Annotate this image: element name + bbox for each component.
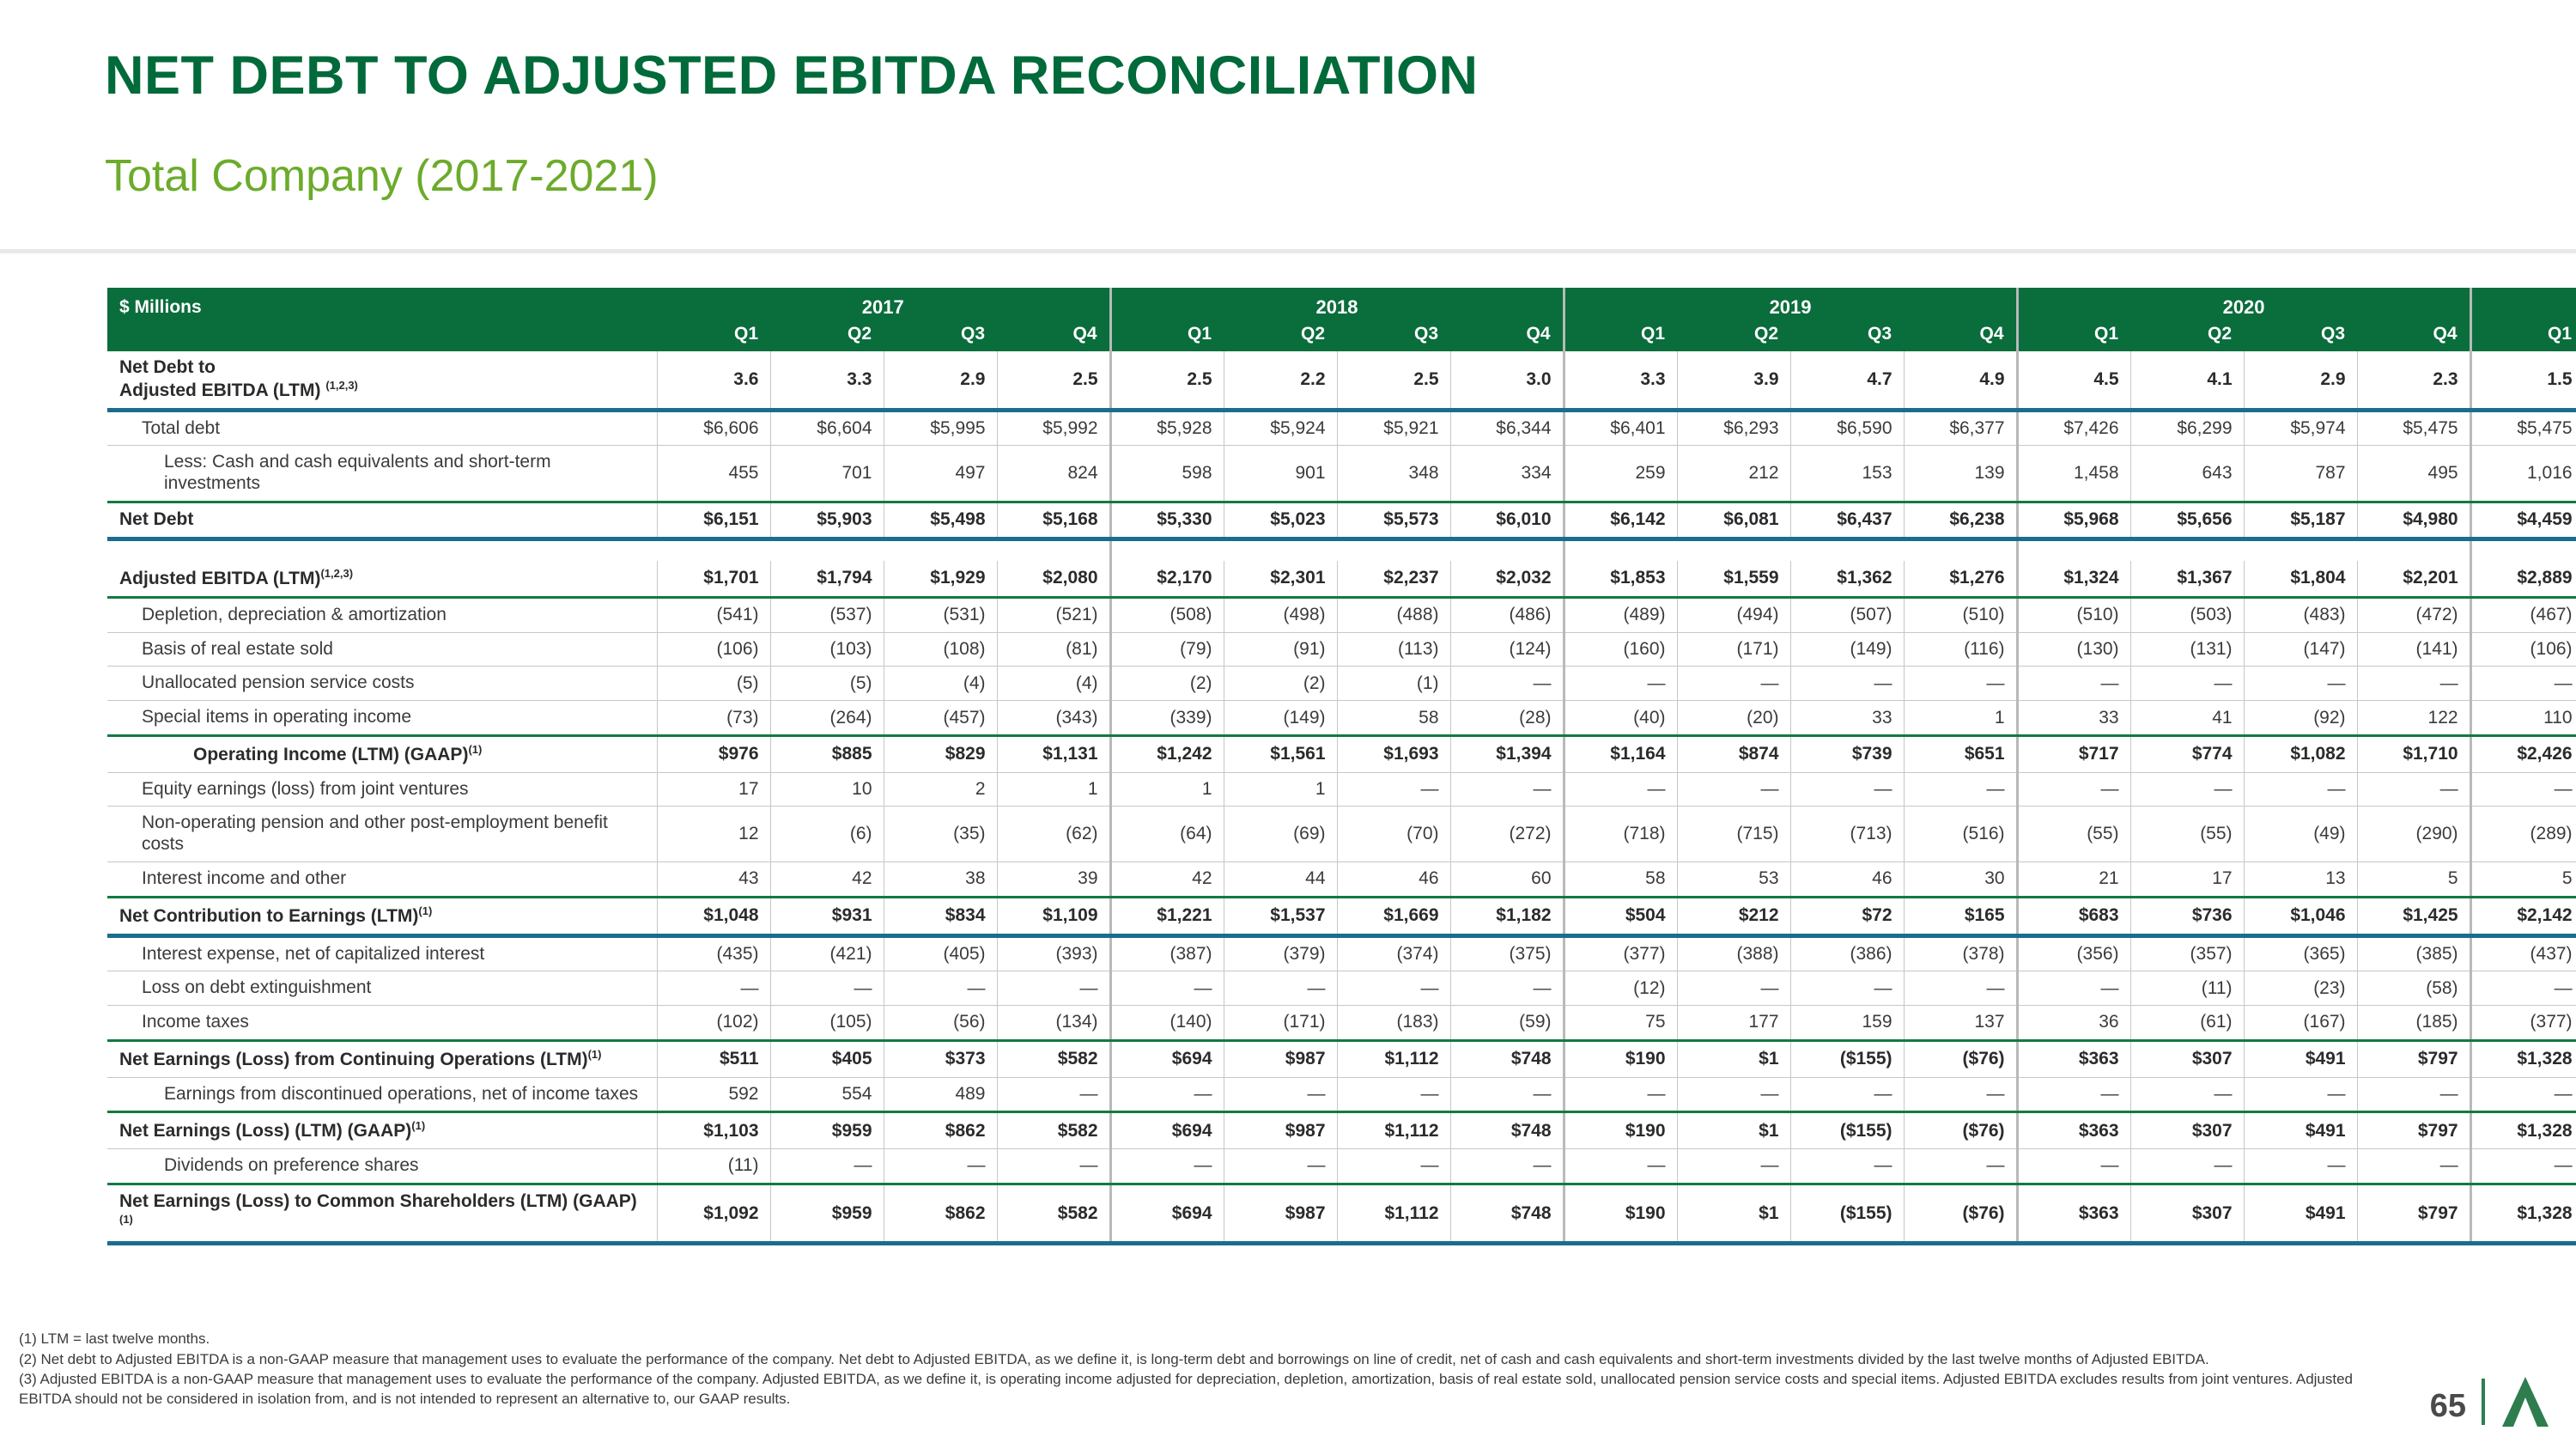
cell-total-debt-2018-Q4: $6,344	[1450, 410, 1564, 446]
cell-interest-expense-net-of-capitalized-2018-Q1: (387)	[1110, 935, 1224, 971]
cell-net-earnings-ltm-gaap-2017-Q2: $959	[770, 1112, 884, 1149]
cell-net-debt-2018-Q1: $5,330	[1110, 502, 1224, 539]
cell-loss-on-debt-extinguishment-2019-Q4: —	[1904, 971, 2017, 1006]
cell-net-earnings-to-common-shareholders-ltm-gaap-2017-Q1: $1,092	[657, 1184, 770, 1244]
quarter-header-2017-Q1: Q1	[657, 322, 770, 351]
row-label-net-earnings-from-continuing-operations-ltm: Net Earnings (Loss) from Continuing Oper…	[107, 1040, 657, 1077]
cell-adjusted-ebitda-ltm-2017-Q3: $1,929	[884, 561, 997, 597]
cell-operating-income-ltm-gaap-2021-Q1: $2,426	[2470, 735, 2576, 772]
quarter-header-2017-Q4: Q4	[997, 322, 1110, 351]
cell-depletion-depreciation-amortization-2018-Q4: (486)	[1450, 597, 1564, 632]
cell-net-earnings-to-common-shareholders-ltm-gaap-2021-Q1: $1,328	[2470, 1184, 2576, 1244]
cell-loss-on-debt-extinguishment-2017-Q1: —	[657, 971, 770, 1006]
cell-net-contribution-to-earnings-ltm-2017-Q4: $1,109	[997, 897, 1110, 935]
cell-adjusted-ebitda-ltm-2018-Q3: $2,237	[1337, 561, 1450, 597]
cell-unallocated-pension-service-costs-2020-Q2: —	[2130, 667, 2244, 701]
row-label-income-taxes: Income taxes	[107, 1006, 657, 1041]
cell-unallocated-pension-service-costs-2018-Q3: (1)	[1337, 667, 1450, 701]
table-row: Interest income and other434238394244466…	[107, 861, 2576, 897]
cell-income-taxes-2019-Q3: 159	[1790, 1006, 1904, 1041]
cell-basis-of-real-estate-sold-2019-Q2: (171)	[1677, 632, 1790, 667]
cell-interest-income-and-other-2020-Q1: 21	[2017, 861, 2130, 897]
footnote-2: (2) Net debt to Adjusted EBITDA is a non…	[19, 1350, 2354, 1370]
row-label-dividends-on-preference-shares: Dividends on preference shares	[107, 1149, 657, 1184]
cell-less-cash-and-equivalents-2020-Q3: 787	[2244, 446, 2357, 502]
cell-equity-earnings-from-joint-ventures-2019-Q1: —	[1564, 772, 1677, 807]
cell-non-operating-pension-benefit-costs-2018-Q3: (70)	[1337, 807, 1450, 862]
cell-earnings-from-discontinued-operations-2019-Q4: —	[1904, 1077, 2017, 1112]
cell-interest-expense-net-of-capitalized-2020-Q4: (385)	[2357, 935, 2470, 971]
cell-net-earnings-to-common-shareholders-ltm-gaap-2020-Q2: $307	[2130, 1184, 2244, 1244]
cell-unallocated-pension-service-costs-2020-Q1: —	[2017, 667, 2130, 701]
cell-net-debt-to-adjusted-ebitda-ltm-2020-Q1: 4.5	[2017, 351, 2130, 410]
cell-interest-income-and-other-2019-Q4: 30	[1904, 861, 2017, 897]
cell-depletion-depreciation-amortization-2017-Q1: (541)	[657, 597, 770, 632]
cell-net-debt-to-adjusted-ebitda-ltm-2018-Q1: 2.5	[1110, 351, 1224, 410]
cell-total-debt-2020-Q2: $6,299	[2130, 410, 2244, 446]
cell-interest-income-and-other-2020-Q3: 13	[2244, 861, 2357, 897]
cell-net-earnings-ltm-gaap-2017-Q1: $1,103	[657, 1112, 770, 1149]
cell-income-taxes-2017-Q4: (134)	[997, 1006, 1110, 1041]
year-header-2019: 2019	[1564, 288, 2017, 322]
cell-equity-earnings-from-joint-ventures-2019-Q4: —	[1904, 772, 2017, 807]
quarter-header-2017-Q2: Q2	[770, 322, 884, 351]
cell-earnings-from-discontinued-operations-2018-Q3: —	[1337, 1077, 1450, 1112]
cell-adjusted-ebitda-ltm-2020-Q1: $1,324	[2017, 561, 2130, 597]
cell-interest-expense-net-of-capitalized-2018-Q4: (375)	[1450, 935, 1564, 971]
cell-loss-on-debt-extinguishment-2019-Q1: (12)	[1564, 971, 1677, 1006]
year-header-2018: 2018	[1110, 288, 1564, 322]
cell-special-items-in-operating-income-2019-Q2: (20)	[1677, 701, 1790, 736]
cell-unallocated-pension-service-costs-2018-Q2: (2)	[1224, 667, 1337, 701]
cell-earnings-from-discontinued-operations-2019-Q1: —	[1564, 1077, 1677, 1112]
cell-net-contribution-to-earnings-ltm-2019-Q1: $504	[1564, 897, 1677, 935]
cell-operating-income-ltm-gaap-2018-Q1: $1,242	[1110, 735, 1224, 772]
cell-dividends-on-preference-shares-2019-Q4: —	[1904, 1149, 2017, 1184]
cell-net-debt-to-adjusted-ebitda-ltm-2018-Q4: 3.0	[1450, 351, 1564, 410]
cell-basis-of-real-estate-sold-2017-Q2: (103)	[770, 632, 884, 667]
cell-net-earnings-ltm-gaap-2019-Q4: ($76)	[1904, 1112, 2017, 1149]
cell-non-operating-pension-benefit-costs-2020-Q4: (290)	[2357, 807, 2470, 862]
cell-operating-income-ltm-gaap-2019-Q1: $1,164	[1564, 735, 1677, 772]
cell-equity-earnings-from-joint-ventures-2017-Q3: 2	[884, 772, 997, 807]
cell-equity-earnings-from-joint-ventures-2020-Q1: —	[2017, 772, 2130, 807]
quarter-row-spacer	[107, 322, 657, 351]
cell-dividends-on-preference-shares-2021-Q1: —	[2470, 1149, 2576, 1184]
cell-net-debt-to-adjusted-ebitda-ltm-2019-Q4: 4.9	[1904, 351, 2017, 410]
cell-net-earnings-ltm-gaap-2018-Q2: $987	[1224, 1112, 1337, 1149]
cell-dividends-on-preference-shares-2017-Q3: —	[884, 1149, 997, 1184]
table-row: Net Earnings (Loss) from Continuing Oper…	[107, 1040, 2576, 1077]
cell-basis-of-real-estate-sold-2018-Q2: (91)	[1224, 632, 1337, 667]
cell-depletion-depreciation-amortization-2017-Q3: (531)	[884, 597, 997, 632]
cell-depletion-depreciation-amortization-2017-Q2: (537)	[770, 597, 884, 632]
cell-less-cash-and-equivalents-2018-Q2: 901	[1224, 446, 1337, 502]
cell-interest-income-and-other-2017-Q1: 43	[657, 861, 770, 897]
cell-equity-earnings-from-joint-ventures-2019-Q3: —	[1790, 772, 1904, 807]
cell-net-earnings-to-common-shareholders-ltm-gaap-2020-Q4: $797	[2357, 1184, 2470, 1244]
cell-net-earnings-to-common-shareholders-ltm-gaap-2018-Q1: $694	[1110, 1184, 1224, 1244]
cell-depletion-depreciation-amortization-2020-Q4: (472)	[2357, 597, 2470, 632]
cell-equity-earnings-from-joint-ventures-2018-Q2: 1	[1224, 772, 1337, 807]
cell-net-earnings-to-common-shareholders-ltm-gaap-2019-Q3: ($155)	[1790, 1184, 1904, 1244]
cell-net-debt-to-adjusted-ebitda-ltm-2018-Q3: 2.5	[1337, 351, 1450, 410]
cell-net-earnings-to-common-shareholders-ltm-gaap-2019-Q2: $1	[1677, 1184, 1790, 1244]
cell-basis-of-real-estate-sold-2018-Q1: (79)	[1110, 632, 1224, 667]
cell-loss-on-debt-extinguishment-2018-Q3: —	[1337, 971, 1450, 1006]
cell-interest-income-and-other-2017-Q2: 42	[770, 861, 884, 897]
cell-equity-earnings-from-joint-ventures-2018-Q4: —	[1450, 772, 1564, 807]
cell-total-debt-2018-Q1: $5,928	[1110, 410, 1224, 446]
cell-basis-of-real-estate-sold-2020-Q4: (141)	[2357, 632, 2470, 667]
cell-non-operating-pension-benefit-costs-2021-Q1: (289)	[2470, 807, 2576, 862]
quarter-header-2019-Q1: Q1	[1564, 322, 1677, 351]
cell-total-debt-2017-Q3: $5,995	[884, 410, 997, 446]
cell-net-earnings-ltm-gaap-2019-Q2: $1	[1677, 1112, 1790, 1149]
cell-loss-on-debt-extinguishment-2020-Q3: (23)	[2244, 971, 2357, 1006]
cell-net-contribution-to-earnings-ltm-2019-Q3: $72	[1790, 897, 1904, 935]
year-header-2017: 2017	[657, 288, 1110, 322]
cell-net-debt-2020-Q1: $5,968	[2017, 502, 2130, 539]
cell-net-debt-to-adjusted-ebitda-ltm-2017-Q1: 3.6	[657, 351, 770, 410]
table-header-quarter-row: Q1Q2Q3Q4Q1Q2Q3Q4Q1Q2Q3Q4Q1Q2Q3Q4Q1Q2Q3Q4	[107, 322, 2576, 351]
cell-income-taxes-2019-Q4: 137	[1904, 1006, 2017, 1041]
cell-dividends-on-preference-shares-2019-Q3: —	[1790, 1149, 1904, 1184]
row-label-loss-on-debt-extinguishment: Loss on debt extinguishment	[107, 971, 657, 1006]
cell-net-earnings-ltm-gaap-2018-Q3: $1,112	[1337, 1112, 1450, 1149]
cell-earnings-from-discontinued-operations-2017-Q3: 489	[884, 1077, 997, 1112]
cell-less-cash-and-equivalents-2020-Q2: 643	[2130, 446, 2244, 502]
cell-depletion-depreciation-amortization-2019-Q3: (507)	[1790, 597, 1904, 632]
cell-dividends-on-preference-shares-2018-Q2: —	[1224, 1149, 1337, 1184]
cell-operating-income-ltm-gaap-2018-Q3: $1,693	[1337, 735, 1450, 772]
row-label-net-contribution-to-earnings-ltm: Net Contribution to Earnings (LTM)(1)	[107, 897, 657, 935]
cell-income-taxes-2019-Q1: 75	[1564, 1006, 1677, 1041]
year-header-2021: 2021	[2470, 288, 2576, 322]
cell-net-contribution-to-earnings-ltm-2019-Q2: $212	[1677, 897, 1790, 935]
cell-dividends-on-preference-shares-2018-Q1: —	[1110, 1149, 1224, 1184]
row-label-basis-of-real-estate-sold: Basis of real estate sold	[107, 632, 657, 667]
cell-less-cash-and-equivalents-2021-Q1: 1,016	[2470, 446, 2576, 502]
quarter-header-2020-Q3: Q3	[2244, 322, 2357, 351]
row-label-net-earnings-to-common-shareholders-ltm-gaap: Net Earnings (Loss) to Common Shareholde…	[107, 1184, 657, 1244]
cell-net-contribution-to-earnings-ltm-2020-Q4: $1,425	[2357, 897, 2470, 935]
cell-net-debt-2017-Q2: $5,903	[770, 502, 884, 539]
table-row: Net Earnings (Loss) to Common Shareholde…	[107, 1184, 2576, 1244]
cell-basis-of-real-estate-sold-2021-Q1: (106)	[2470, 632, 2576, 667]
cell-equity-earnings-from-joint-ventures-2018-Q3: —	[1337, 772, 1450, 807]
cell-dividends-on-preference-shares-2020-Q3: —	[2244, 1149, 2357, 1184]
cell-unallocated-pension-service-costs-2017-Q2: (5)	[770, 667, 884, 701]
cell-operating-income-ltm-gaap-2019-Q2: $874	[1677, 735, 1790, 772]
cell-unallocated-pension-service-costs-2019-Q2: —	[1677, 667, 1790, 701]
cell-total-debt-2018-Q2: $5,924	[1224, 410, 1337, 446]
footnotes: (1) LTM = last twelve months.(2) Net deb…	[19, 1330, 2354, 1409]
cell-net-earnings-to-common-shareholders-ltm-gaap-2017-Q2: $959	[770, 1184, 884, 1244]
cell-net-debt-to-adjusted-ebitda-ltm-2021-Q1: 1.5	[2470, 351, 2576, 410]
quarter-header-2019-Q2: Q2	[1677, 322, 1790, 351]
cell-dividends-on-preference-shares-2017-Q2: —	[770, 1149, 884, 1184]
cell-operating-income-ltm-gaap-2018-Q4: $1,394	[1450, 735, 1564, 772]
cell-net-debt-2020-Q3: $5,187	[2244, 502, 2357, 539]
cell-operating-income-ltm-gaap-2020-Q4: $1,710	[2357, 735, 2470, 772]
cell-special-items-in-operating-income-2018-Q2: (149)	[1224, 701, 1337, 736]
cell-net-contribution-to-earnings-ltm-2020-Q3: $1,046	[2244, 897, 2357, 935]
cell-earnings-from-discontinued-operations-2018-Q2: —	[1224, 1077, 1337, 1112]
cell-interest-expense-net-of-capitalized-2021-Q1: (437)	[2470, 935, 2576, 971]
cell-less-cash-and-equivalents-2019-Q3: 153	[1790, 446, 1904, 502]
cell-earnings-from-discontinued-operations-2020-Q4: —	[2357, 1077, 2470, 1112]
cell-interest-expense-net-of-capitalized-2017-Q3: (405)	[884, 935, 997, 971]
cell-depletion-depreciation-amortization-2018-Q2: (498)	[1224, 597, 1337, 632]
cell-adjusted-ebitda-ltm-2019-Q4: $1,276	[1904, 561, 2017, 597]
page-number: 65	[2430, 1388, 2466, 1425]
cell-unallocated-pension-service-costs-2018-Q1: (2)	[1110, 667, 1224, 701]
cell-net-earnings-ltm-gaap-2018-Q1: $694	[1110, 1112, 1224, 1149]
cell-net-contribution-to-earnings-ltm-2018-Q3: $1,669	[1337, 897, 1450, 935]
cell-net-debt-2020-Q4: $4,980	[2357, 502, 2470, 539]
cell-net-debt-2020-Q2: $5,656	[2130, 502, 2244, 539]
cell-net-debt-2018-Q2: $5,023	[1224, 502, 1337, 539]
cell-net-earnings-from-continuing-operations-ltm-2017-Q3: $373	[884, 1040, 997, 1077]
cell-net-contribution-to-earnings-ltm-2017-Q3: $834	[884, 897, 997, 935]
cell-net-debt-to-adjusted-ebitda-ltm-2020-Q4: 2.3	[2357, 351, 2470, 410]
cell-unallocated-pension-service-costs-2018-Q4: —	[1450, 667, 1564, 701]
table-row: Less: Cash and cash equivalents and shor…	[107, 446, 2576, 502]
cell-income-taxes-2017-Q3: (56)	[884, 1006, 997, 1041]
cell-total-debt-2019-Q2: $6,293	[1677, 410, 1790, 446]
cell-interest-income-and-other-2017-Q4: 39	[997, 861, 1110, 897]
quarter-header-2021-Q1: Q1	[2470, 322, 2576, 351]
quarter-header-2018-Q3: Q3	[1337, 322, 1450, 351]
cell-net-earnings-to-common-shareholders-ltm-gaap-2019-Q1: $190	[1564, 1184, 1677, 1244]
cell-earnings-from-discontinued-operations-2017-Q2: 554	[770, 1077, 884, 1112]
cell-loss-on-debt-extinguishment-2018-Q4: —	[1450, 971, 1564, 1006]
table-row: Unallocated pension service costs(5)(5)(…	[107, 667, 2576, 701]
row-label-depletion-depreciation-amortization: Depletion, depreciation & amortization	[107, 597, 657, 632]
cell-basis-of-real-estate-sold-2017-Q3: (108)	[884, 632, 997, 667]
cell-net-earnings-to-common-shareholders-ltm-gaap-2018-Q4: $748	[1450, 1184, 1564, 1244]
row-label-interest-income-and-other: Interest income and other	[107, 861, 657, 897]
slide-root: NET DEBT TO ADJUSTED EBITDA RECONCILIATI…	[0, 0, 2576, 1449]
cell-net-earnings-to-common-shareholders-ltm-gaap-2020-Q3: $491	[2244, 1184, 2357, 1244]
quarter-header-2018-Q4: Q4	[1450, 322, 1564, 351]
cell-interest-income-and-other-2019-Q3: 46	[1790, 861, 1904, 897]
cell-loss-on-debt-extinguishment-2020-Q1: —	[2017, 971, 2130, 1006]
cell-net-earnings-ltm-gaap-2018-Q4: $748	[1450, 1112, 1564, 1149]
cell-less-cash-and-equivalents-2019-Q4: 139	[1904, 446, 2017, 502]
reconciliation-table: $ Millions20172018201920202021 Q1Q2Q3Q4Q…	[107, 288, 2576, 1245]
cell-net-earnings-from-continuing-operations-ltm-2021-Q1: $1,328	[2470, 1040, 2576, 1077]
table-row: Adjusted EBITDA (LTM)(1,2,3)$1,701$1,794…	[107, 561, 2576, 597]
cell-depletion-depreciation-amortization-2021-Q1: (467)	[2470, 597, 2576, 632]
cell-earnings-from-discontinued-operations-2021-Q1: —	[2470, 1077, 2576, 1112]
cell-net-earnings-ltm-gaap-2019-Q3: ($155)	[1790, 1112, 1904, 1149]
cell-earnings-from-discontinued-operations-2017-Q1: 592	[657, 1077, 770, 1112]
cell-basis-of-real-estate-sold-2020-Q2: (131)	[2130, 632, 2244, 667]
cell-interest-expense-net-of-capitalized-2018-Q2: (379)	[1224, 935, 1337, 971]
cell-dividends-on-preference-shares-2020-Q4: —	[2357, 1149, 2470, 1184]
cell-net-contribution-to-earnings-ltm-2018-Q4: $1,182	[1450, 897, 1564, 935]
cell-less-cash-and-equivalents-2018-Q4: 334	[1450, 446, 1564, 502]
cell-non-operating-pension-benefit-costs-2019-Q1: (718)	[1564, 807, 1677, 862]
cell-adjusted-ebitda-ltm-2020-Q3: $1,804	[2244, 561, 2357, 597]
cell-special-items-in-operating-income-2018-Q3: 58	[1337, 701, 1450, 736]
cell-dividends-on-preference-shares-2017-Q4: —	[997, 1149, 1110, 1184]
cell-interest-income-and-other-2018-Q4: 60	[1450, 861, 1564, 897]
cell-less-cash-and-equivalents-2019-Q2: 212	[1677, 446, 1790, 502]
cell-special-items-in-operating-income-2020-Q1: 33	[2017, 701, 2130, 736]
cell-income-taxes-2018-Q2: (171)	[1224, 1006, 1337, 1041]
cell-special-items-in-operating-income-2017-Q3: (457)	[884, 701, 997, 736]
cell-interest-expense-net-of-capitalized-2019-Q4: (378)	[1904, 935, 2017, 971]
cell-interest-income-and-other-2018-Q3: 46	[1337, 861, 1450, 897]
cell-earnings-from-discontinued-operations-2020-Q3: —	[2244, 1077, 2357, 1112]
cell-non-operating-pension-benefit-costs-2020-Q2: (55)	[2130, 807, 2244, 862]
cell-total-debt-2017-Q2: $6,604	[770, 410, 884, 446]
table-row: Loss on debt extinguishment————————(12)—…	[107, 971, 2576, 1006]
table-row: Special items in operating income(73)(26…	[107, 701, 2576, 736]
cell-earnings-from-discontinued-operations-2018-Q4: —	[1450, 1077, 1564, 1112]
cell-basis-of-real-estate-sold-2019-Q4: (116)	[1904, 632, 2017, 667]
cell-net-earnings-to-common-shareholders-ltm-gaap-2020-Q1: $363	[2017, 1184, 2130, 1244]
cell-adjusted-ebitda-ltm-2017-Q1: $1,701	[657, 561, 770, 597]
cell-loss-on-debt-extinguishment-2017-Q4: —	[997, 971, 1110, 1006]
cell-operating-income-ltm-gaap-2017-Q1: $976	[657, 735, 770, 772]
cell-adjusted-ebitda-ltm-2020-Q4: $2,201	[2357, 561, 2470, 597]
cell-unallocated-pension-service-costs-2020-Q3: —	[2244, 667, 2357, 701]
cell-special-items-in-operating-income-2017-Q4: (343)	[997, 701, 1110, 736]
cell-net-debt-2017-Q1: $6,151	[657, 502, 770, 539]
cell-net-earnings-to-common-shareholders-ltm-gaap-2017-Q4: $582	[997, 1184, 1110, 1244]
table-row: Operating Income (LTM) (GAAP)(1)$976$885…	[107, 735, 2576, 772]
table-row: Net Earnings (Loss) (LTM) (GAAP)(1)$1,10…	[107, 1112, 2576, 1149]
cell-equity-earnings-from-joint-ventures-2020-Q4: —	[2357, 772, 2470, 807]
quarter-header-2017-Q3: Q3	[884, 322, 997, 351]
cell-income-taxes-2020-Q4: (185)	[2357, 1006, 2470, 1041]
cell-adjusted-ebitda-ltm-2017-Q2: $1,794	[770, 561, 884, 597]
quarter-header-2020-Q1: Q1	[2017, 322, 2130, 351]
cell-unallocated-pension-service-costs-2017-Q3: (4)	[884, 667, 997, 701]
cell-dividends-on-preference-shares-2019-Q1: —	[1564, 1149, 1677, 1184]
cell-depletion-depreciation-amortization-2019-Q4: (510)	[1904, 597, 2017, 632]
quarter-header-2020-Q4: Q4	[2357, 322, 2470, 351]
cell-adjusted-ebitda-ltm-2018-Q1: $2,170	[1110, 561, 1224, 597]
cell-unallocated-pension-service-costs-2021-Q1: —	[2470, 667, 2576, 701]
table-row: Earnings from discontinued operations, n…	[107, 1077, 2576, 1112]
cell-net-earnings-ltm-gaap-2020-Q4: $797	[2357, 1112, 2470, 1149]
cell-operating-income-ltm-gaap-2020-Q3: $1,082	[2244, 735, 2357, 772]
cell-net-earnings-from-continuing-operations-ltm-2019-Q4: ($76)	[1904, 1040, 2017, 1077]
cell-earnings-from-discontinued-operations-2019-Q2: —	[1677, 1077, 1790, 1112]
cell-basis-of-real-estate-sold-2018-Q3: (113)	[1337, 632, 1450, 667]
cell-unallocated-pension-service-costs-2019-Q3: —	[1790, 667, 1904, 701]
cell-earnings-from-discontinued-operations-2017-Q4: —	[997, 1077, 1110, 1112]
cell-interest-expense-net-of-capitalized-2020-Q3: (365)	[2244, 935, 2357, 971]
cell-loss-on-debt-extinguishment-2018-Q2: —	[1224, 971, 1337, 1006]
cell-less-cash-and-equivalents-2018-Q3: 348	[1337, 446, 1450, 502]
reconciliation-table-wrapper: $ Millions20172018201920202021 Q1Q2Q3Q4Q…	[107, 288, 2470, 1245]
cell-net-debt-2017-Q4: $5,168	[997, 502, 1110, 539]
cell-income-taxes-2020-Q1: 36	[2017, 1006, 2130, 1041]
cell-net-earnings-from-continuing-operations-ltm-2018-Q1: $694	[1110, 1040, 1224, 1077]
cell-depletion-depreciation-amortization-2020-Q3: (483)	[2244, 597, 2357, 632]
cell-net-debt-2017-Q3: $5,498	[884, 502, 997, 539]
cell-depletion-depreciation-amortization-2020-Q1: (510)	[2017, 597, 2130, 632]
cell-operating-income-ltm-gaap-2017-Q2: $885	[770, 735, 884, 772]
cell-less-cash-and-equivalents-2020-Q1: 1,458	[2017, 446, 2130, 502]
year-header-2020: 2020	[2017, 288, 2470, 322]
row-label-earnings-from-discontinued-operations: Earnings from discontinued operations, n…	[107, 1077, 657, 1112]
cell-basis-of-real-estate-sold-2017-Q1: (106)	[657, 632, 770, 667]
cell-unallocated-pension-service-costs-2019-Q4: —	[1904, 667, 2017, 701]
cell-earnings-from-discontinued-operations-2018-Q1: —	[1110, 1077, 1224, 1112]
quarter-header-2018-Q1: Q1	[1110, 322, 1224, 351]
table-row: Non-operating pension and other post-emp…	[107, 807, 2576, 862]
table-row: Interest expense, net of capitalized int…	[107, 935, 2576, 971]
cell-net-earnings-to-common-shareholders-ltm-gaap-2018-Q3: $1,112	[1337, 1184, 1450, 1244]
row-label-operating-income-ltm-gaap: Operating Income (LTM) (GAAP)(1)	[107, 735, 657, 772]
cell-interest-expense-net-of-capitalized-2020-Q2: (357)	[2130, 935, 2244, 971]
cell-unallocated-pension-service-costs-2020-Q4: —	[2357, 667, 2470, 701]
cell-net-contribution-to-earnings-ltm-2020-Q1: $683	[2017, 897, 2130, 935]
cell-net-debt-to-adjusted-ebitda-ltm-2017-Q3: 2.9	[884, 351, 997, 410]
cell-basis-of-real-estate-sold-2018-Q4: (124)	[1450, 632, 1564, 667]
cell-earnings-from-discontinued-operations-2020-Q2: —	[2130, 1077, 2244, 1112]
cell-net-earnings-ltm-gaap-2020-Q1: $363	[2017, 1112, 2130, 1149]
cell-dividends-on-preference-shares-2018-Q3: —	[1337, 1149, 1450, 1184]
cell-net-earnings-from-continuing-operations-ltm-2020-Q1: $363	[2017, 1040, 2130, 1077]
row-label-equity-earnings-from-joint-ventures: Equity earnings (loss) from joint ventur…	[107, 772, 657, 807]
cell-special-items-in-operating-income-2019-Q3: 33	[1790, 701, 1904, 736]
cell-total-debt-2020-Q1: $7,426	[2017, 410, 2130, 446]
cell-net-earnings-from-continuing-operations-ltm-2018-Q4: $748	[1450, 1040, 1564, 1077]
cell-non-operating-pension-benefit-costs-2018-Q1: (64)	[1110, 807, 1224, 862]
cell-income-taxes-2018-Q1: (140)	[1110, 1006, 1224, 1041]
row-label-net-debt: Net Debt	[107, 502, 657, 539]
cell-non-operating-pension-benefit-costs-2019-Q2: (715)	[1677, 807, 1790, 862]
cell-net-earnings-from-continuing-operations-ltm-2020-Q4: $797	[2357, 1040, 2470, 1077]
cell-net-contribution-to-earnings-ltm-2017-Q1: $1,048	[657, 897, 770, 935]
cell-less-cash-and-equivalents-2019-Q1: 259	[1564, 446, 1677, 502]
cell-loss-on-debt-extinguishment-2017-Q3: —	[884, 971, 997, 1006]
cell-net-debt-to-adjusted-ebitda-ltm-2019-Q2: 3.9	[1677, 351, 1790, 410]
cell-net-debt-to-adjusted-ebitda-ltm-2018-Q2: 2.2	[1224, 351, 1337, 410]
cell-interest-income-and-other-2020-Q4: 5	[2357, 861, 2470, 897]
cell-earnings-from-discontinued-operations-2019-Q3: —	[1790, 1077, 1904, 1112]
cell-net-earnings-ltm-gaap-2019-Q1: $190	[1564, 1112, 1677, 1149]
cell-loss-on-debt-extinguishment-2020-Q2: (11)	[2130, 971, 2244, 1006]
cell-interest-income-and-other-2021-Q1: 5	[2470, 861, 2576, 897]
cell-non-operating-pension-benefit-costs-2019-Q3: (713)	[1790, 807, 1904, 862]
cell-adjusted-ebitda-ltm-2019-Q2: $1,559	[1677, 561, 1790, 597]
cell-operating-income-ltm-gaap-2019-Q3: $739	[1790, 735, 1904, 772]
cell-net-earnings-ltm-gaap-2020-Q3: $491	[2244, 1112, 2357, 1149]
cell-non-operating-pension-benefit-costs-2018-Q2: (69)	[1224, 807, 1337, 862]
table-header: $ Millions20172018201920202021 Q1Q2Q3Q4Q…	[107, 288, 2576, 351]
cell-income-taxes-2019-Q2: 177	[1677, 1006, 1790, 1041]
cell-depletion-depreciation-amortization-2019-Q2: (494)	[1677, 597, 1790, 632]
cell-net-contribution-to-earnings-ltm-2018-Q1: $1,221	[1110, 897, 1224, 935]
cell-total-debt-2017-Q1: $6,606	[657, 410, 770, 446]
cell-interest-expense-net-of-capitalized-2019-Q2: (388)	[1677, 935, 1790, 971]
cell-non-operating-pension-benefit-costs-2019-Q4: (516)	[1904, 807, 2017, 862]
cell-special-items-in-operating-income-2021-Q1: 110	[2470, 701, 2576, 736]
quarter-header-2019-Q4: Q4	[1904, 322, 2017, 351]
cell-operating-income-ltm-gaap-2017-Q4: $1,131	[997, 735, 1110, 772]
table-row: Net Contribution to Earnings (LTM)(1)$1,…	[107, 897, 2576, 935]
cell-total-debt-2019-Q4: $6,377	[1904, 410, 2017, 446]
